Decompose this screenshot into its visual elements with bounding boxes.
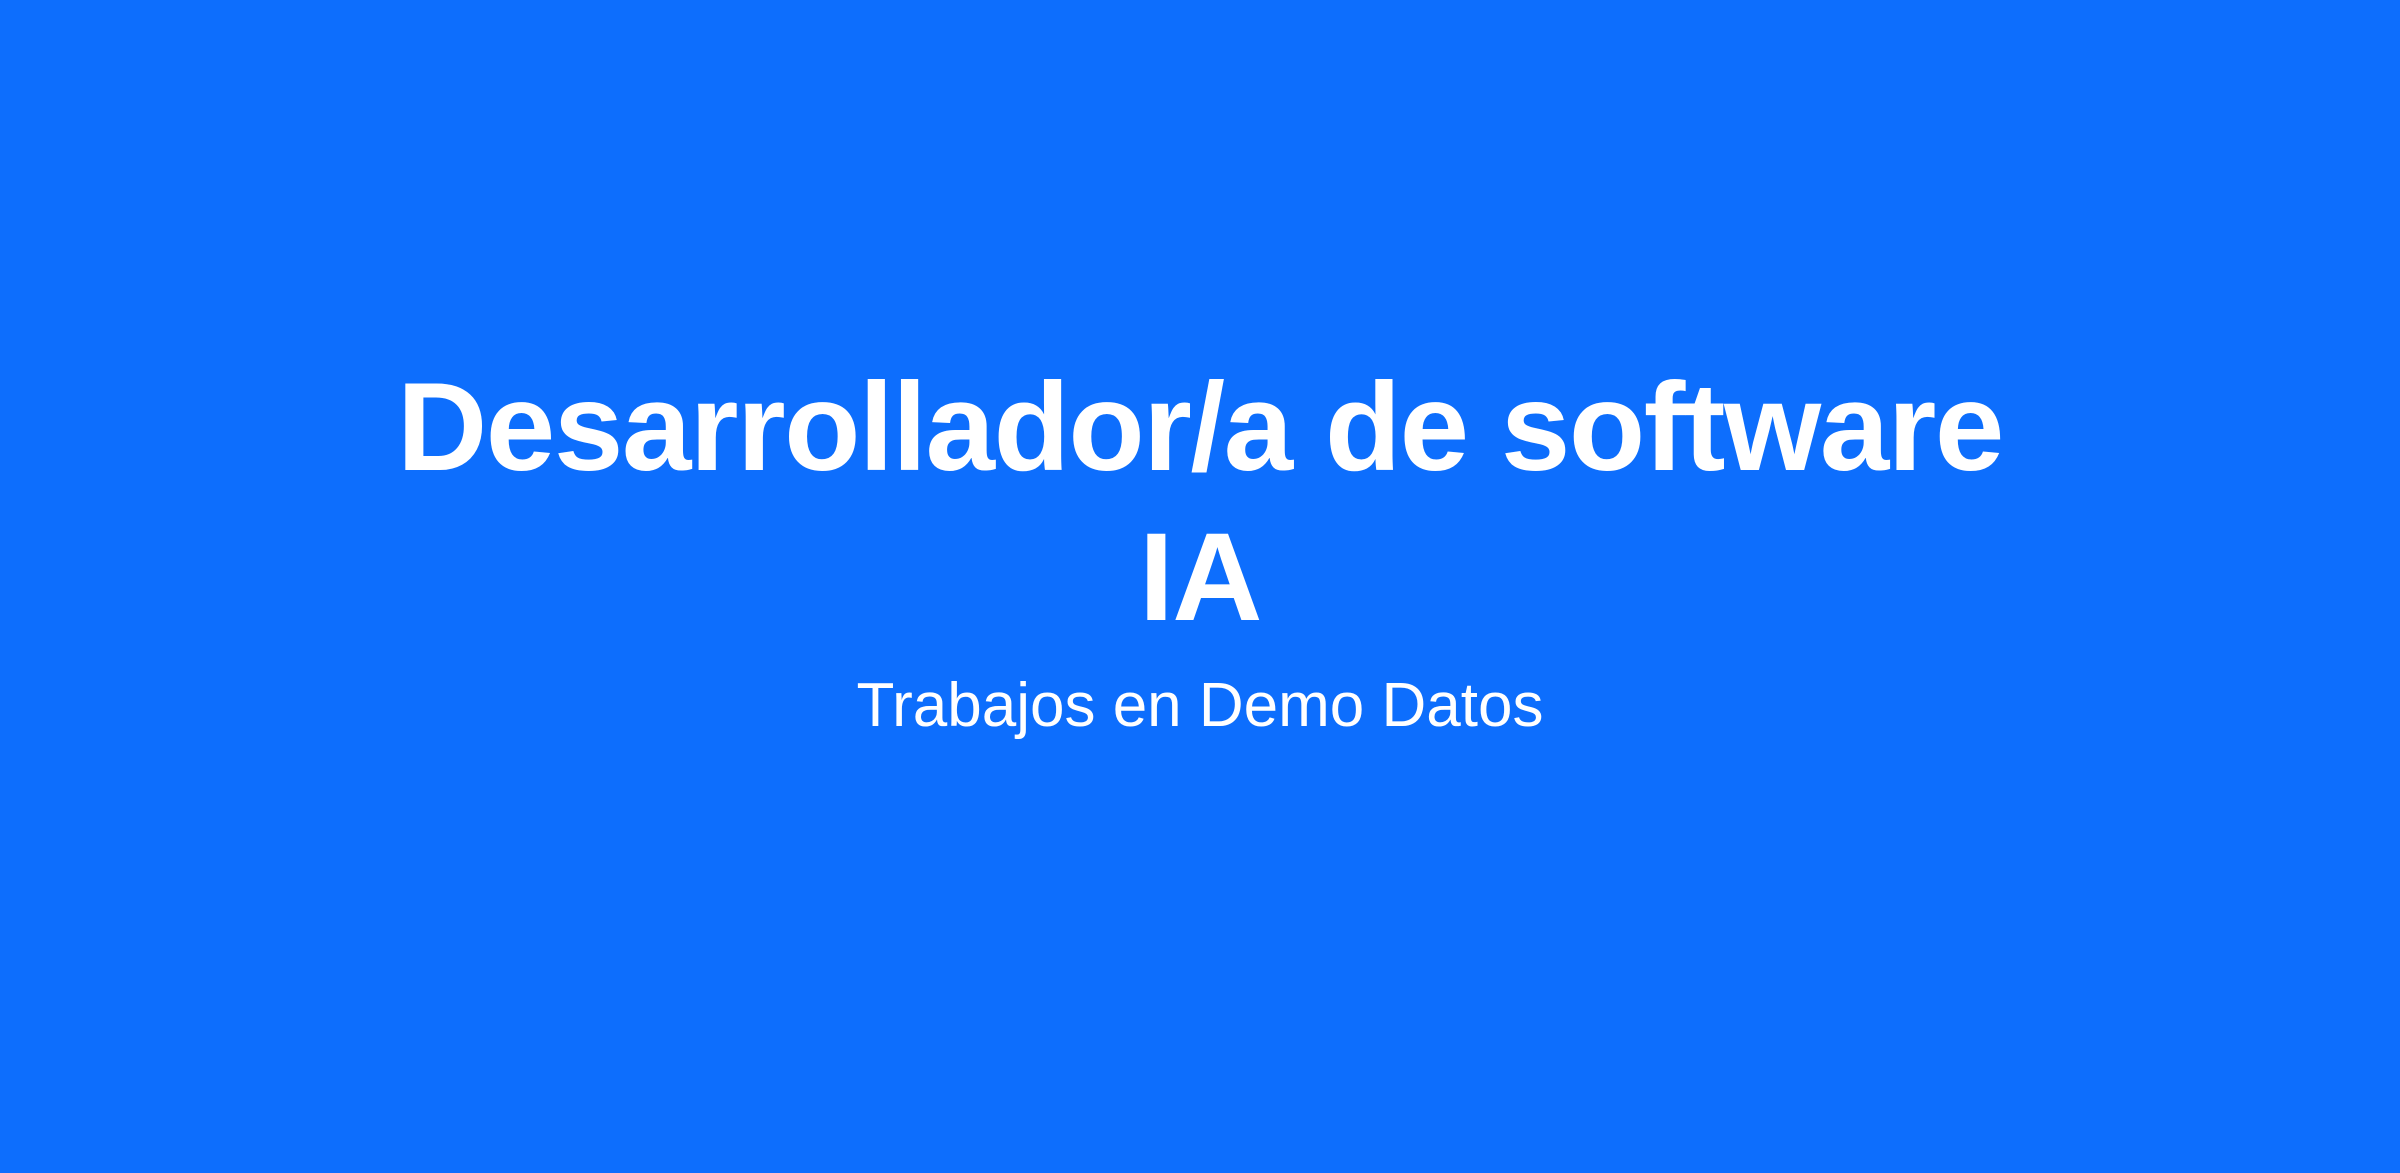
page-title: Desarrollador/a de software IA — [375, 353, 2025, 653]
hero-subtitle: Trabajos en Demo Datos — [857, 667, 1544, 745]
hero-text-block: Desarrollador/a de software IA Trabajos … — [360, 353, 2040, 745]
job-hero-banner: Desarrollador/a de software IA Trabajos … — [0, 0, 2400, 1173]
